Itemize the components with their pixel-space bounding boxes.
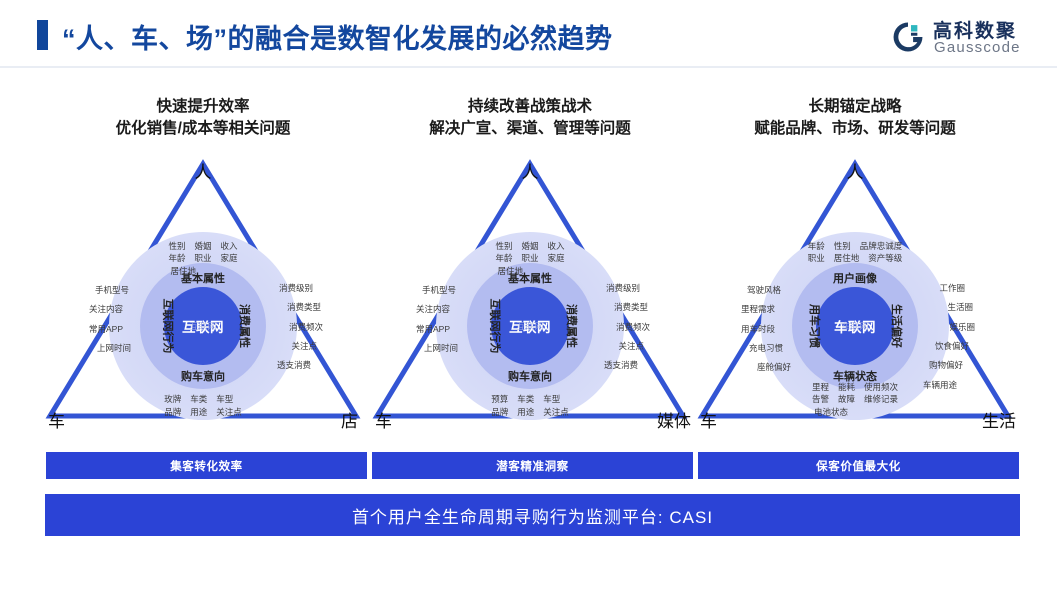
tag-group-2-top: 性别婚姻收入年龄职业家庭居住地 [495,240,564,277]
column-2-heading-line1: 持续改善战策战术 [365,96,695,118]
subbar-2[interactable]: 潜客精准洞察 [371,451,694,480]
triangle-diagram-2: 人 车 媒体 互联网 互联网 基本属性 购车意向 互联网行为 消费属性 性别婚姻… [365,150,695,430]
column-1: 快速提升效率 优化销售/成本等相关问题 人 车 店 互联网 互联网 基本属性 购… [38,96,368,456]
tag-group-2-bottom: 预算车类车型品牌用途关注点 [491,393,569,418]
tag-item: 资产等级 [868,252,902,264]
ring-label-3-right: 生活偏好 [889,304,905,348]
tag-item: 手机型号 [95,284,131,296]
watermark-2: 互联网 [516,320,543,333]
tag-group-3-top: 年龄性别品牌忠诚度职业居住地资产等级 [808,240,903,265]
subbar-2-label: 潜客精准洞察 [496,458,569,474]
ring-label-2-left: 互联网行为 [488,299,504,354]
tag-item: 常用APP [416,323,458,335]
tag-item: 透支消费 [277,359,311,371]
tag-row: 年龄职业家庭 [495,252,564,264]
tag-item: 购物偏好 [923,359,963,371]
header-divider [0,66,1057,68]
tag-item: 品牌忠诚度 [860,240,903,252]
tag-item: 居住地 [834,252,860,264]
tag-item: 职业 [808,252,825,264]
tag-item: 品牌 [164,406,181,418]
column-3: 长期锚定战略 赋能品牌、市场、研发等问题 人 车 生活 车联网 车联网 用户画像… [690,96,1020,456]
tag-group-2-right: 消费级别消费类型消费频次关注点透支消费 [604,282,648,379]
tag-item: 关注点 [604,340,644,352]
tag-item: 婚姻 [521,240,538,252]
tag-item: 使用频次 [864,381,898,393]
tag-group-1-bottom: 玫牌车类车型品牌用途关注点 [164,393,242,418]
slide-header: “人、车、场”的融合是数智化发展的必然趋势 高科数聚 Gausscode [0,0,1057,66]
tag-item: 性别 [168,240,185,252]
tag-group-1-left: 手机型号关注内容常用APP上网时间 [87,284,131,361]
watermark-1: 互联网 [189,320,216,333]
tag-item: 消费频次 [604,321,650,333]
tag-item: 车类 [190,393,207,405]
ring-label-1-left: 互联网行为 [161,299,177,354]
tag-item: 消费类型 [277,301,321,313]
brand-logo: 高科数聚 Gausscode [891,16,1031,60]
tag-item: 车型 [216,393,233,405]
tag-item: 充电习惯 [749,342,791,354]
ring-label-2-bottom: 购车意向 [508,368,552,384]
column-3-heading-line1: 长期锚定战略 [690,96,1020,118]
triangle-3-corner-top: 人 [847,158,864,183]
tag-item: 工作圈 [923,282,965,294]
triangle-1-corner-top: 人 [195,158,212,183]
tag-item: 上网时间 [97,342,131,354]
tag-item: 故障 [838,393,855,405]
tag-item: 饮食偏好 [923,340,969,352]
subbar-1[interactable]: 集客转化效率 [45,451,368,480]
tag-item: 职业 [194,252,211,264]
tag-item: 里程需求 [741,303,791,315]
tag-item: 车型 [543,393,560,405]
tag-item: 透支消费 [604,359,638,371]
triangle-2-corner-top: 人 [522,158,539,183]
column-2-heading-line2: 解决广宣、渠道、管理等问题 [365,118,695,140]
triangle-1-corner-left: 车 [48,407,65,432]
platform-banner-label: 首个用户全生命周期寻购行为监测平台: CASI [352,503,713,528]
tag-item: 职业 [521,252,538,264]
subbar-3-label: 保客价值最大化 [816,458,901,474]
subbar-3[interactable]: 保客价值最大化 [697,451,1020,480]
tag-item: 居住地 [170,265,196,277]
tag-row: 职业居住地资产等级 [808,252,903,264]
triangle-1-corner-right: 店 [341,407,358,432]
watermark-3: 车联网 [841,320,868,333]
triangle-2-corner-left: 车 [375,407,392,432]
tag-item: 告警 [812,393,829,405]
tag-row: 居住地 [170,265,237,277]
tag-item: 生活圈 [923,301,973,313]
tag-row: 玫牌车类车型 [164,393,242,405]
ring-label-1-right: 消费属性 [237,304,253,348]
column-1-heading-line2: 优化销售/成本等相关问题 [38,118,368,140]
tag-row: 预算车类车型 [491,393,569,405]
concentric-rings-1: 互联网 互联网 基本属性 购车意向 互联网行为 消费属性 性别婚姻收入年龄职业家… [109,232,297,420]
tag-item: 关注内容 [416,303,458,315]
tag-item: 关注点 [216,406,242,418]
tag-item: 预算 [491,393,508,405]
tag-item: 消费频次 [277,321,323,333]
ring-label-3-left: 用车习惯 [807,304,823,348]
tag-item: 玫牌 [164,393,181,405]
logo-text-en: Gausscode [934,39,1021,56]
tag-item: 收入 [548,240,565,252]
platform-banner[interactable]: 首个用户全生命周期寻购行为监测平台: CASI [45,494,1020,536]
triangle-3-corner-right: 生活 [982,407,1016,432]
column-2: 持续改善战策战术 解决广宣、渠道、管理等问题 人 车 媒体 互联网 互联网 基本… [365,96,695,456]
tag-item: 车类 [517,393,534,405]
tag-group-1-right: 消费级别消费类型消费频次关注点透支消费 [277,282,321,379]
tag-item: 关注点 [277,340,317,352]
title-accent-bar [37,20,48,50]
ring-label-1-bottom: 购车意向 [181,368,225,384]
tag-item: 品牌 [491,406,508,418]
tag-item: 能耗 [838,381,855,393]
tag-row: 品牌用途关注点 [164,406,242,418]
slide-root: “人、车、场”的融合是数智化发展的必然趋势 高科数聚 Gausscode 快速提… [0,0,1057,589]
triangle-3-corner-left: 车 [700,407,717,432]
tag-row: 性别婚姻收入 [168,240,237,252]
tag-row: 性别婚姻收入 [495,240,564,252]
tag-row: 居住地 [497,265,564,277]
tag-item: 座舱偏好 [757,361,791,373]
tag-item: 居住地 [497,265,523,277]
tag-item: 年龄 [808,240,825,252]
tag-row: 电池状态 [814,406,898,418]
tag-item: 维修记录 [864,393,898,405]
column-3-heading-line2: 赋能品牌、市场、研发等问题 [690,118,1020,140]
concentric-rings-2: 互联网 互联网 基本属性 购车意向 互联网行为 消费属性 性别婚姻收入年龄职业家… [436,232,624,420]
column-1-heading-line1: 快速提升效率 [38,96,368,118]
triangle-diagram-1: 人 车 店 互联网 互联网 基本属性 购车意向 互联网行为 消费属性 性别婚姻收… [38,150,368,430]
ring-label-3-top: 用户画像 [833,270,877,286]
subbar-1-label: 集客转化效率 [170,458,243,474]
tag-item: 用途 [517,406,534,418]
tag-item: 用途 [190,406,207,418]
tag-row: 品牌用途关注点 [491,406,569,418]
tag-item: 消费级别 [277,282,313,294]
tag-item: 年龄 [495,252,512,264]
tag-item: 娱乐圈 [923,321,975,333]
tag-item: 电池状态 [814,406,848,418]
tag-item: 年龄 [168,252,185,264]
tag-item: 驾驶风格 [747,284,791,296]
ring-label-2-right: 消费属性 [564,304,580,348]
tag-row: 告警故障维修记录 [812,393,898,405]
tag-item: 里程 [812,381,829,393]
tag-row: 年龄职业家庭 [168,252,237,264]
column-3-heading: 长期锚定战略 赋能品牌、市场、研发等问题 [690,96,1020,140]
gausscode-logo-icon [891,20,925,54]
triangle-2-corner-right: 媒体 [657,407,691,432]
tag-item: 手机型号 [422,284,458,296]
concentric-rings-3: 车联网 车联网 用户画像 车辆状态 用车习惯 生活偏好 年龄性别品牌忠诚度职业居… [761,232,949,420]
tag-item: 常用APP [89,323,131,335]
tag-item: 关注内容 [89,303,131,315]
tag-item: 用车时段 [741,323,791,335]
tag-item: 关注点 [543,406,569,418]
tag-row: 年龄性别品牌忠诚度 [808,240,903,252]
tag-group-3-left: 驾驶风格里程需求用车时段充电习惯座舱偏好 [739,284,791,381]
tag-item: 车辆用途 [923,379,957,391]
tag-item: 性别 [834,240,851,252]
tag-group-3-bottom: 里程能耗使用频次告警故障维修记录电池状态 [812,381,898,418]
tag-item: 收入 [221,240,238,252]
tag-item: 家庭 [548,252,565,264]
triangle-diagram-3: 人 车 生活 车联网 车联网 用户画像 车辆状态 用车习惯 生活偏好 年龄性别品… [690,150,1020,430]
tag-group-3-right: 工作圈生活圈娱乐圈饮食偏好购物偏好车辆用途 [923,282,973,398]
page-title: “人、车、场”的融合是数智化发展的必然趋势 [62,17,613,56]
tag-group-2-left: 手机型号关注内容常用APP上网时间 [414,284,458,361]
tag-item: 消费类型 [604,301,648,313]
tag-item: 上网时间 [424,342,458,354]
tag-item: 婚姻 [194,240,211,252]
tag-row: 里程能耗使用频次 [812,381,898,393]
tag-group-1-top: 性别婚姻收入年龄职业家庭居住地 [168,240,237,277]
tag-item: 消费级别 [604,282,640,294]
column-2-heading: 持续改善战策战术 解决广宣、渠道、管理等问题 [365,96,695,140]
tag-item: 性别 [495,240,512,252]
tag-item: 家庭 [221,252,238,264]
column-1-heading: 快速提升效率 优化销售/成本等相关问题 [38,96,368,140]
